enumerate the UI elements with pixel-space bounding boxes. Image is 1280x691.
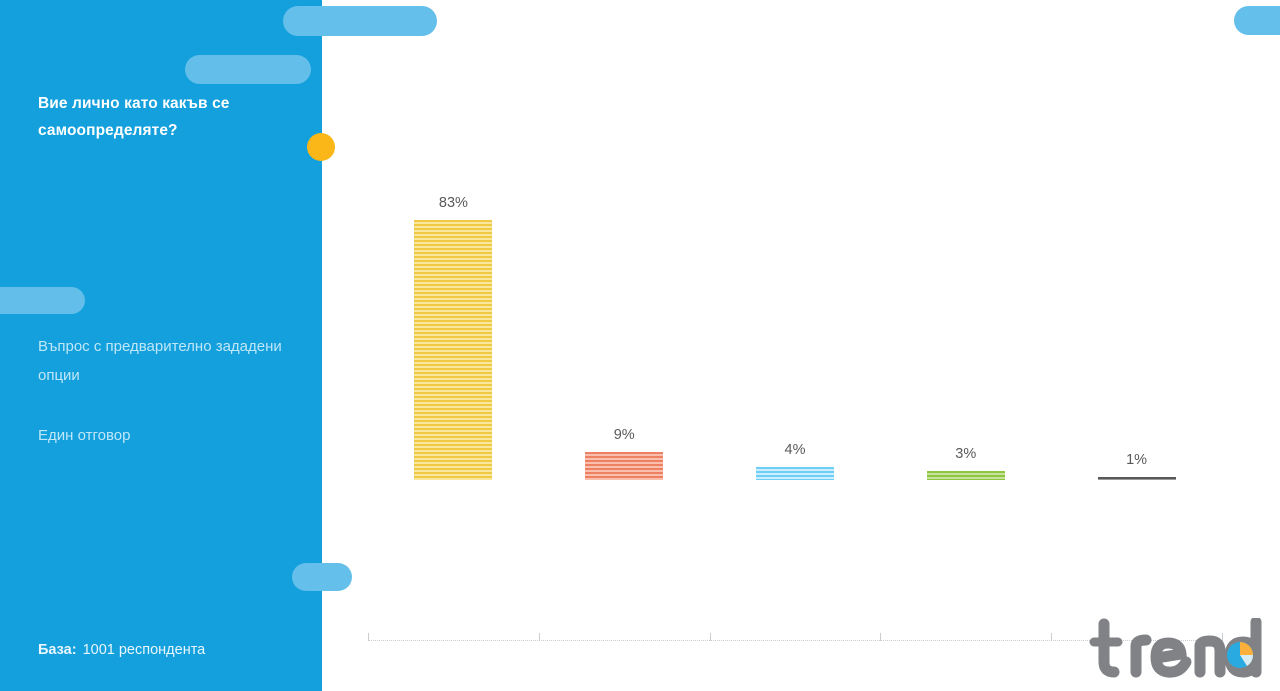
bar-column[interactable]: 83% bbox=[414, 195, 492, 480]
bar-category[interactable]: 83% bbox=[368, 160, 539, 480]
bar[interactable] bbox=[756, 467, 834, 480]
plot-area: 83%9%4%3%1% БългаринЕвропеецБалканецГраж… bbox=[368, 160, 1222, 480]
bar-category[interactable]: 1% bbox=[1051, 160, 1222, 480]
decorative-pill-edge-bottom bbox=[292, 563, 352, 591]
answer-type-note: Един отговор bbox=[38, 421, 288, 450]
question-title: Вие лично като какъв се самоопределяте? bbox=[38, 90, 300, 144]
bar[interactable] bbox=[585, 452, 663, 480]
bar-value-label: 9% bbox=[614, 427, 635, 443]
decorative-pill-edge-top bbox=[283, 6, 437, 36]
axis-tick bbox=[880, 633, 881, 641]
base-value: 1001 респондента bbox=[83, 642, 206, 658]
base-info: База:1001 респондента bbox=[38, 642, 205, 658]
bar-value-label: 3% bbox=[955, 446, 976, 462]
bar-value-label: 1% bbox=[1126, 452, 1147, 468]
bar-column[interactable]: 9% bbox=[585, 427, 663, 480]
bar-value-label: 83% bbox=[439, 195, 468, 211]
slide-root: Вие лично като какъв се самоопределяте? … bbox=[0, 0, 1280, 691]
bar-column[interactable]: 1% bbox=[1098, 452, 1176, 480]
axis-tick bbox=[1051, 633, 1052, 641]
bar-category[interactable]: 4% bbox=[710, 160, 881, 480]
bar-column[interactable]: 3% bbox=[927, 446, 1005, 480]
bar-category[interactable]: 9% bbox=[539, 160, 710, 480]
base-label: База: bbox=[38, 642, 77, 658]
bar[interactable] bbox=[927, 471, 1005, 480]
decorative-pill-left bbox=[0, 287, 85, 314]
axis-tick bbox=[710, 633, 711, 641]
bar[interactable] bbox=[1098, 477, 1176, 480]
bar-chart: 83%9%4%3%1% БългаринЕвропеецБалканецГраж… bbox=[368, 0, 1222, 691]
bar-column[interactable]: 4% bbox=[756, 442, 834, 480]
decorative-dot-orange bbox=[307, 133, 335, 161]
decorative-pill-top-right bbox=[1234, 6, 1280, 35]
bar[interactable] bbox=[414, 220, 492, 480]
bar-category[interactable]: 3% bbox=[880, 160, 1051, 480]
bar-value-label: 4% bbox=[785, 442, 806, 458]
pie-chart-icon bbox=[1227, 642, 1253, 668]
question-type-note: Въпрос с предварително зададени опции bbox=[38, 332, 288, 390]
decorative-pill-inner-top bbox=[185, 55, 311, 84]
axis-tick bbox=[539, 633, 540, 641]
trend-logo bbox=[1088, 618, 1264, 682]
axis-tick bbox=[368, 633, 369, 641]
